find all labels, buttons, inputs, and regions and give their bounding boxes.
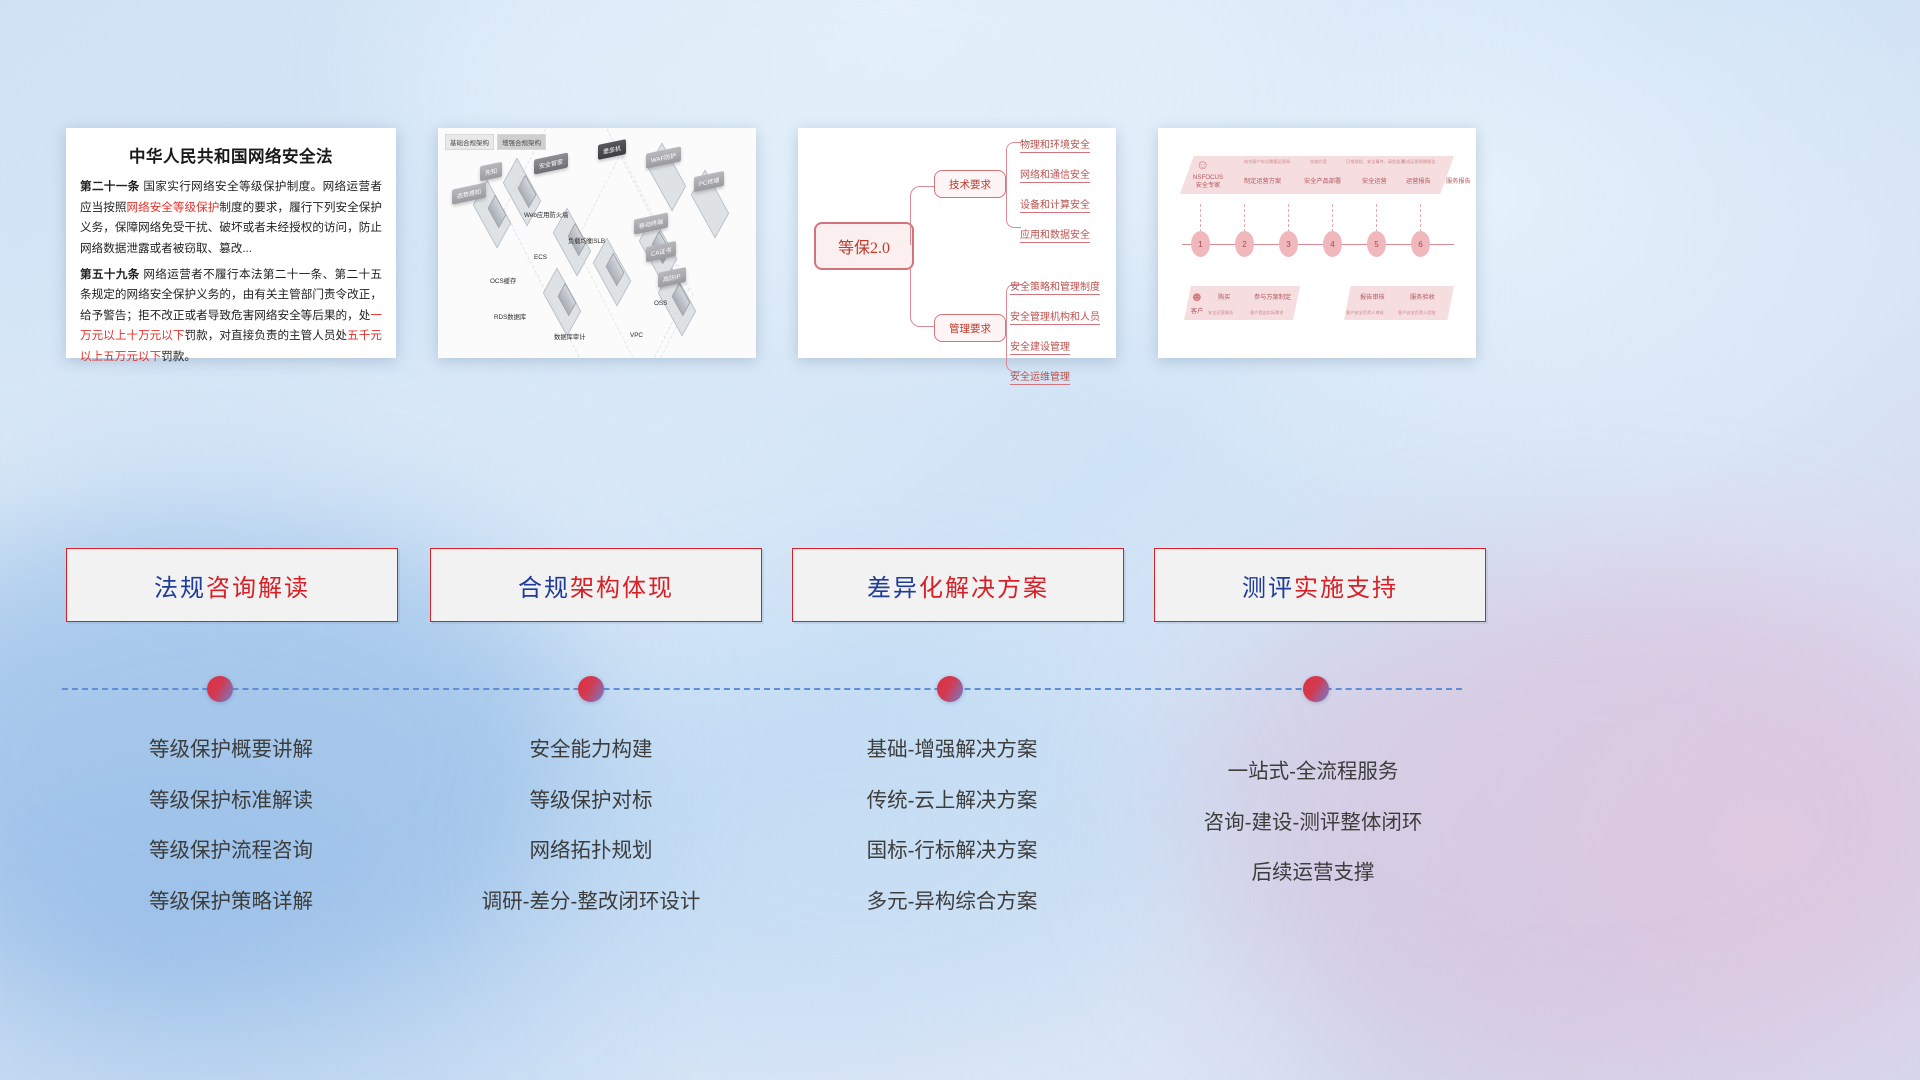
headline-box-regulation-consulting[interactable]: 法规咨询解读 [66,548,398,622]
detail-column-1: 等级保护概要讲解 等级保护标准解读 等级保护流程咨询 等级保护策略详解 [46,740,416,942]
headline-text-1: 法规咨询解读 [154,568,310,603]
timeline-node-1[interactable] [207,676,233,702]
list-item: 多元-异构综合方案 [767,892,1137,913]
timeline-node-3[interactable] [937,676,963,702]
list-item: 国标-行标解决方案 [767,841,1137,862]
headline-box-compliance-architecture[interactable]: 合规架构体现 [430,548,762,622]
headline-1-blue: 法规 [154,575,206,602]
list-item: 一站式-全流程服务 [1128,762,1498,783]
headline-text-4: 测评实施支持 [1242,568,1398,603]
list-item: 安全能力构建 [406,740,776,761]
list-item: 等级保护流程咨询 [46,841,416,862]
detail-column-4: 一站式-全流程服务 咨询-建设-测评整体闭环 后续运营支撑 [1128,740,1498,914]
list-item: 网络拓扑规划 [406,841,776,862]
detail-column-3: 基础-增强解决方案 传统-云上解决方案 国标-行标解决方案 多元-异构综合方案 [767,740,1137,942]
headline-text-3: 差异化解决方案 [867,568,1049,603]
list-item: 等级保护标准解读 [46,791,416,812]
headline-4-blue: 测评 [1242,575,1294,602]
headline-3-blue: 差异 [867,575,919,602]
list-item: 咨询-建设-测评整体闭环 [1128,813,1498,834]
timeline-node-2[interactable] [578,676,604,702]
headline-1-red: 咨询解读 [206,575,310,602]
headline-box-evaluation-support[interactable]: 测评实施支持 [1154,548,1486,622]
list-item: 等级保护策略详解 [46,892,416,913]
headline-text-2: 合规架构体现 [518,568,674,603]
list-item: 调研-差分-整改闭环设计 [406,892,776,913]
list-item: 后续运营支撑 [1128,863,1498,884]
list-item: 传统-云上解决方案 [767,791,1137,812]
headline-3-red: 化解决方案 [919,575,1049,602]
timeline-dashed-line [62,688,1462,690]
list-item: 等级保护对标 [406,791,776,812]
list-item: 等级保护概要讲解 [46,740,416,761]
headline-box-differentiated-solution[interactable]: 差异化解决方案 [792,548,1124,622]
headline-2-red: 架构体现 [570,575,674,602]
list-item: 基础-增强解决方案 [767,740,1137,761]
headline-4-red: 实施支持 [1294,575,1398,602]
headline-2-blue: 合规 [518,575,570,602]
detail-column-2: 安全能力构建 等级保护对标 网络拓扑规划 调研-差分-整改闭环设计 [406,740,776,942]
timeline-node-4[interactable] [1303,676,1329,702]
